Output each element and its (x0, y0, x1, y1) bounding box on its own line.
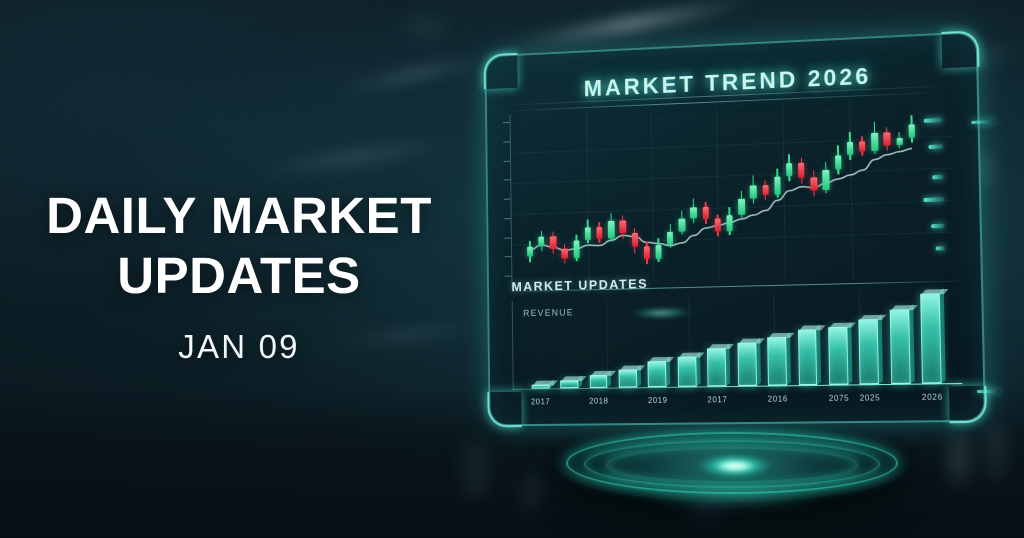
page-title-line-2: UPDATES (0, 246, 478, 306)
bar-chart-x-label: 2018 (589, 397, 609, 406)
candle-body (884, 132, 891, 145)
bar-chart-x-label: 2019 (648, 396, 668, 405)
date-label: JAN 09 (0, 328, 478, 366)
bar-side-face (878, 314, 883, 385)
candle-body (538, 237, 544, 247)
candle-body (715, 219, 721, 232)
candle-body (847, 142, 854, 155)
bar-top-face (768, 333, 794, 339)
bar-chart-x-label: 2026 (922, 393, 943, 402)
podium-core-light (698, 454, 772, 478)
candle-body (871, 133, 878, 151)
podium-reflection (608, 490, 858, 524)
price-level-indicator (932, 175, 943, 179)
candle-body (573, 241, 579, 259)
candle-body (908, 125, 915, 138)
candle-body (667, 231, 673, 244)
bar-chart-bar[interactable] (531, 385, 549, 389)
y-axis-tick (504, 237, 511, 238)
candle-body (690, 207, 696, 218)
candle-body (655, 245, 661, 260)
candle-body (702, 206, 708, 219)
candle-body (550, 237, 556, 250)
bar-top-face (738, 338, 764, 343)
candle-body (835, 155, 842, 170)
bar-face (798, 329, 818, 385)
candle-body (679, 218, 685, 231)
bar-top-face (799, 325, 825, 331)
bar-chart-bar[interactable] (648, 361, 667, 387)
bar-chart-bar[interactable] (589, 375, 607, 388)
holographic-display[interactable]: MARKET TREND 2026 MARKET UPDATES REVENUE… (484, 31, 986, 426)
page-title-line-1: DAILY MARKET (0, 186, 478, 246)
bar-chart-x-label: 2017 (531, 397, 550, 406)
bar-chart-bar[interactable] (737, 342, 756, 386)
bar-chart-x-label: 2025 (860, 393, 881, 402)
candle-body (762, 185, 768, 195)
bar-face (921, 293, 942, 383)
bar-chart-bar[interactable] (707, 348, 726, 386)
candle-body (859, 141, 866, 151)
bar-face (707, 348, 726, 386)
candle-body (527, 247, 533, 257)
bar-chart-bar[interactable] (678, 356, 697, 386)
candle-body (774, 177, 781, 195)
bar-top-face (561, 376, 586, 381)
candle-body (738, 199, 745, 215)
bar-chart-bar[interactable] (560, 380, 578, 388)
bar-top-face (891, 305, 918, 311)
bar-side-face (786, 332, 791, 385)
candle-body (620, 220, 626, 233)
market-updates-bar-chart[interactable]: MARKET UPDATES REVENUE 20172018201920172… (506, 285, 963, 409)
y-axis-tick (505, 276, 512, 277)
revenue-axis-label: REVENUE (523, 307, 574, 318)
bar-chart-bar[interactable] (859, 319, 879, 384)
candle-body (596, 227, 602, 238)
bar-chart-x-label: 2016 (768, 394, 788, 403)
bar-top-face (620, 365, 645, 370)
bar-chart-y-axis (512, 301, 514, 390)
bar-face (828, 327, 848, 385)
bar-face (890, 309, 911, 384)
bar-chart-bar[interactable] (798, 329, 818, 385)
candle-body (585, 228, 591, 241)
bar-face (859, 319, 879, 384)
bar-chart-bar[interactable] (767, 337, 787, 385)
bar-face (678, 356, 697, 386)
bar-top-face (679, 352, 705, 357)
holographic-podium (548, 418, 916, 524)
candle-body (786, 163, 793, 176)
price-level-indicator (924, 118, 943, 123)
price-level-indicator (936, 246, 945, 250)
candle-body (896, 138, 903, 145)
bar-chart-bar[interactable] (828, 327, 848, 385)
bar-top-face (708, 344, 734, 349)
bar-chart-bar[interactable] (921, 293, 942, 383)
market-updates-label: MARKET UPDATES (511, 276, 648, 294)
candle-body (823, 170, 830, 190)
bar-face (589, 375, 607, 388)
candle-body (632, 233, 638, 247)
bar-top-face (922, 289, 949, 295)
bar-face (648, 361, 667, 387)
bar-top-face (860, 315, 887, 321)
bar-top-face (649, 357, 675, 362)
market-trend-candlestick-chart[interactable] (510, 95, 956, 287)
bar-top-face (829, 323, 856, 329)
edge-indicator (977, 390, 1000, 393)
bar-chart-bar[interactable] (619, 369, 638, 387)
bar-face (767, 337, 787, 385)
candle-body (750, 186, 756, 199)
candle-body (798, 163, 805, 178)
bar-face (619, 369, 638, 387)
y-axis-tick (504, 199, 511, 200)
bar-face (737, 342, 756, 386)
bar-side-face (817, 324, 822, 385)
bar-top-face (532, 381, 557, 386)
price-level-indicator (928, 144, 942, 149)
candle-body (811, 177, 818, 190)
bar-chart-x-label: 2017 (707, 395, 727, 404)
bar-side-face (726, 343, 731, 386)
price-level-indicator (923, 197, 944, 202)
candle-body (644, 247, 650, 260)
bar-top-face (590, 371, 615, 376)
bar-side-face (940, 288, 946, 383)
candle-body (562, 249, 568, 259)
bar-side-face (756, 337, 761, 385)
candle-body (608, 221, 614, 239)
bar-chart-x-label: 2075 (829, 394, 850, 403)
candle-body (726, 215, 733, 231)
y-axis-tick (505, 256, 512, 257)
bar-side-face (909, 304, 915, 384)
price-level-indicator (931, 224, 944, 228)
y-axis-tick (504, 218, 511, 219)
bar-chart-bar[interactable] (890, 309, 911, 384)
bar-side-face (847, 322, 852, 385)
headline-block: DAILY MARKET UPDATES JAN 09 (0, 186, 478, 366)
